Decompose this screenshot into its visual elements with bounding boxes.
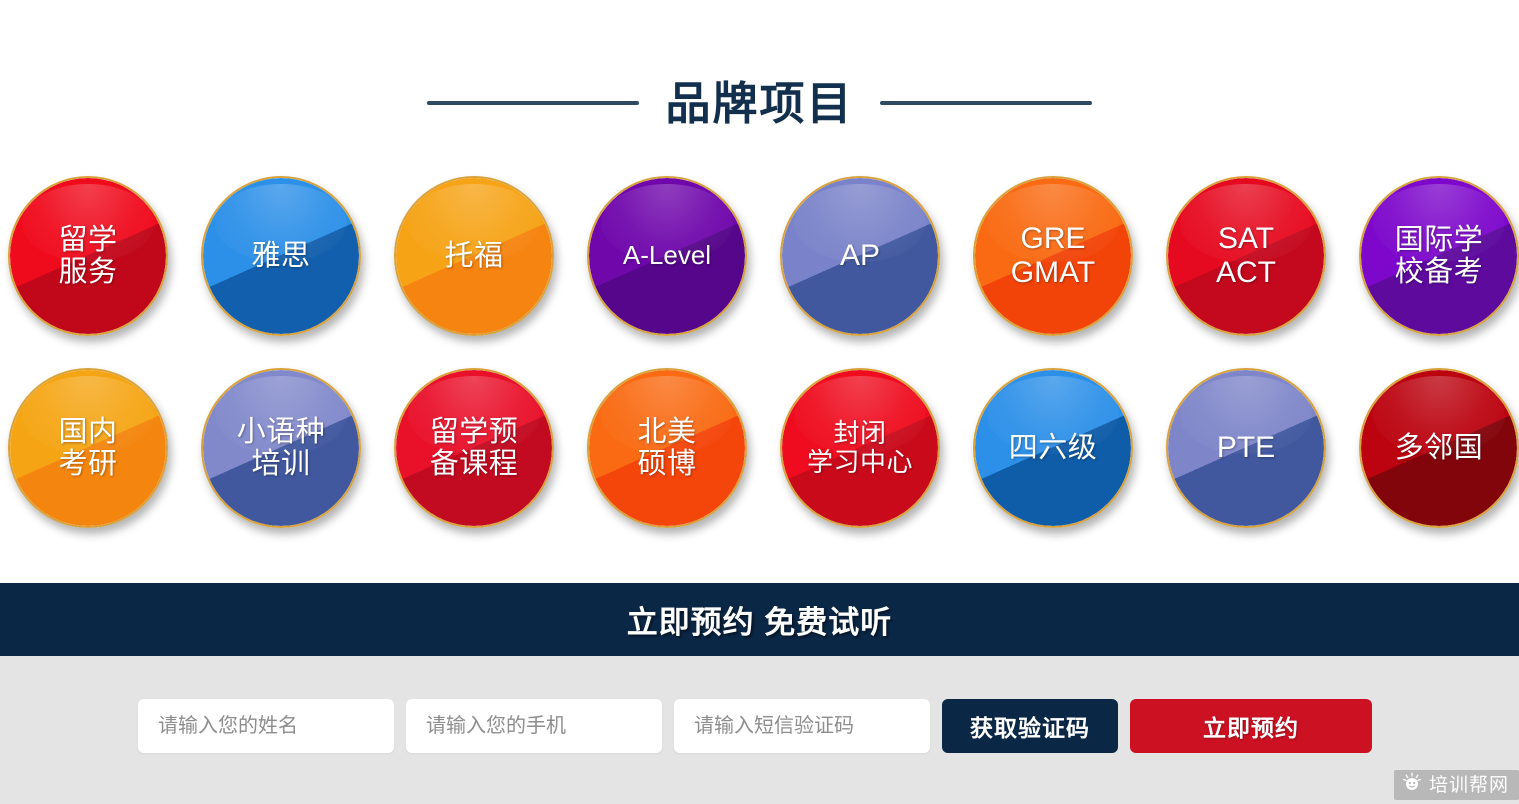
submit-appointment-button[interactable]: 立即预约 <box>1130 699 1372 753</box>
program-bubble[interactable]: 国际学 校备考 <box>1359 176 1519 336</box>
program-bubble-label: 小语种 培训 <box>231 416 332 481</box>
program-bubble-label: AP <box>834 239 886 273</box>
program-cell: 国际学 校备考 <box>1359 176 1519 350</box>
site-watermark: 培训帮网 <box>1394 770 1519 800</box>
program-bubble-label: 国内 考研 <box>52 416 123 481</box>
program-bubble[interactable]: SAT ACT <box>1166 176 1326 336</box>
sun-face-icon <box>1402 772 1422 798</box>
heading-rule-left <box>427 101 639 105</box>
program-bubble[interactable]: 北美 硕博 <box>587 368 747 528</box>
program-bubble-label: A-Level <box>617 241 717 270</box>
program-row-2: 国内 考研小语种 培训留学预 备课程北美 硕博封闭 学习中心四六级PTE多邻国 <box>0 368 1519 560</box>
appointment-form: 获取验证码 立即预约 <box>138 699 1372 753</box>
program-bubble-label: PTE <box>1211 431 1281 465</box>
program-bubble-label: GRE GMAT <box>1005 222 1101 289</box>
program-bubble[interactable]: A-Level <box>587 176 747 336</box>
program-bubble[interactable]: 四六级 <box>973 368 1133 528</box>
program-bubble[interactable]: 留学预 备课程 <box>394 368 554 528</box>
heading-rule-right <box>880 101 1092 105</box>
program-bubble-label: 留学预 备课程 <box>424 416 525 481</box>
program-bubble[interactable]: 封闭 学习中心 <box>780 368 940 528</box>
page-title: 品牌项目 <box>665 81 853 126</box>
program-bubble[interactable]: 国内 考研 <box>8 368 168 528</box>
cta-banner: 立即预约 免费试听 <box>0 583 1519 656</box>
program-cell: PTE <box>1166 368 1326 542</box>
program-bubble-label: 雅思 <box>245 240 316 272</box>
program-bubble-label: 北美 硕博 <box>631 416 702 481</box>
name-input[interactable] <box>138 699 394 753</box>
program-cell: 留学预 备课程 <box>394 368 554 542</box>
watermark-label: 培训帮网 <box>1429 776 1509 795</box>
program-bubble[interactable]: GRE GMAT <box>973 176 1133 336</box>
get-verification-code-button[interactable]: 获取验证码 <box>942 699 1118 753</box>
program-bubble-label: 留学 服务 <box>52 224 123 289</box>
program-cell: 小语种 培训 <box>201 368 361 542</box>
program-cell: SAT ACT <box>1166 176 1326 350</box>
program-bubble-label: 封闭 学习中心 <box>801 419 919 477</box>
program-bubble-label: 国际学 校备考 <box>1389 224 1490 289</box>
program-cell: 国内 考研 <box>8 368 168 542</box>
program-cell: AP <box>780 176 940 350</box>
program-bubble[interactable]: AP <box>780 176 940 336</box>
program-bubble-label: 多邻国 <box>1389 432 1490 464</box>
program-cell: 北美 硕博 <box>587 368 747 542</box>
program-bubble-label: SAT ACT <box>1210 222 1282 289</box>
program-bubble[interactable]: 雅思 <box>201 176 361 336</box>
program-cell: 雅思 <box>201 176 361 350</box>
cta-banner-title: 立即预约 免费试听 <box>627 597 893 642</box>
program-cell: 留学 服务 <box>8 176 168 350</box>
program-bubble[interactable]: 托福 <box>394 176 554 336</box>
sms-code-input[interactable] <box>674 699 930 753</box>
program-bubble[interactable]: 留学 服务 <box>8 176 168 336</box>
program-cell: A-Level <box>587 176 747 350</box>
program-bubble-label: 四六级 <box>1003 432 1104 464</box>
program-cell: GRE GMAT <box>973 176 1133 350</box>
program-cell: 托福 <box>394 176 554 350</box>
program-bubble[interactable]: PTE <box>1166 368 1326 528</box>
program-bubble[interactable]: 多邻国 <box>1359 368 1519 528</box>
section-heading: 品牌项目 <box>0 0 1519 134</box>
program-cell: 多邻国 <box>1359 368 1519 542</box>
program-bubble-grid: 留学 服务雅思托福A-LevelAPGRE GMATSAT ACT国际学 校备考… <box>0 176 1519 560</box>
program-cell: 四六级 <box>973 368 1133 542</box>
phone-input[interactable] <box>406 699 662 753</box>
program-bubble[interactable]: 小语种 培训 <box>201 368 361 528</box>
program-row-1: 留学 服务雅思托福A-LevelAPGRE GMATSAT ACT国际学 校备考 <box>0 176 1519 368</box>
program-bubble-label: 托福 <box>438 240 509 272</box>
program-cell: 封闭 学习中心 <box>780 368 940 542</box>
appointment-form-strip: 获取验证码 立即预约 <box>0 656 1519 804</box>
